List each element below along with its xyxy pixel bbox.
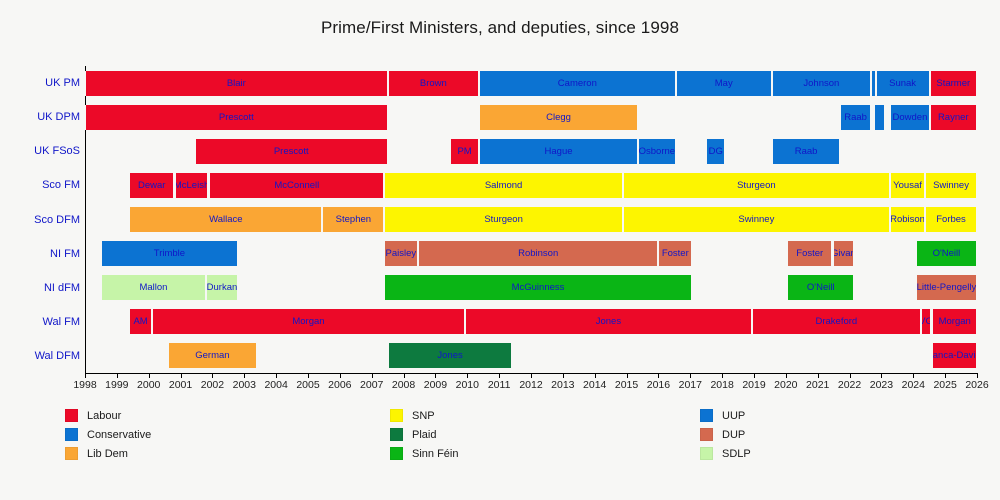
timeline-bar[interactable]: Drakeford bbox=[752, 309, 921, 334]
legend-item-sdlp[interactable]: SDLP bbox=[700, 444, 751, 463]
row-label-ni-dfm: NI dFM bbox=[0, 282, 80, 294]
x-axis-tick-label: 2011 bbox=[488, 379, 511, 391]
legend-label: DUP bbox=[722, 429, 745, 441]
x-axis-tick-label: 2016 bbox=[647, 379, 670, 391]
timeline-bar-label: Robinson bbox=[518, 248, 558, 259]
timeline-bar[interactable]: Osborne bbox=[638, 139, 676, 164]
x-axis-tick bbox=[372, 373, 373, 378]
legend-label: UUP bbox=[722, 410, 745, 422]
x-axis-tick bbox=[818, 373, 819, 378]
timeline-bar-label: Irranca-Davies bbox=[932, 350, 977, 361]
legend-swatch bbox=[65, 428, 78, 441]
timeline-bar[interactable]: Raab bbox=[840, 105, 871, 130]
x-axis-tick bbox=[786, 373, 787, 378]
timeline-bar[interactable]: Blair bbox=[85, 71, 388, 96]
timeline-bar-label: PM bbox=[457, 146, 471, 157]
timeline-bar[interactable]: Rayner bbox=[930, 105, 977, 130]
timeline-bar-label: Drakeford bbox=[815, 316, 857, 327]
legend-item-uup[interactable]: UUP bbox=[700, 406, 751, 425]
timeline-bar[interactable]: Swinney bbox=[623, 207, 890, 232]
legend-swatch bbox=[700, 447, 713, 460]
timeline-bar[interactable]: Little-Pengelly bbox=[916, 275, 977, 300]
row-label-uk-fsos: UK FSoS bbox=[0, 145, 80, 157]
x-axis-tick bbox=[149, 373, 150, 378]
timeline-bar-label: Paisley bbox=[386, 248, 417, 259]
legend-swatch bbox=[390, 409, 403, 422]
timeline-bar-label: Dowden bbox=[893, 112, 928, 123]
x-axis-tick-label: 2026 bbox=[965, 379, 988, 391]
timeline-row: PrescottPMHagueOsborneDGRaab bbox=[85, 139, 977, 164]
timeline-bar[interactable]: PM bbox=[450, 139, 479, 164]
row-label-uk-dpm: UK DPM bbox=[0, 111, 80, 123]
timeline-bar[interactable]: Dowden bbox=[890, 105, 929, 130]
timeline-bar[interactable]: Morgan bbox=[932, 309, 977, 334]
timeline-bar-label: Sturgeon bbox=[484, 214, 523, 225]
x-axis-tick-label: 2021 bbox=[806, 379, 829, 391]
timeline-row: WallaceStephenSturgeonSwinneyRobisonForb… bbox=[85, 207, 977, 232]
timeline-bar[interactable]: Starmer bbox=[930, 71, 977, 96]
timeline-bar[interactable]: Jones bbox=[465, 309, 752, 334]
x-axis-tick-label: 2007 bbox=[360, 379, 383, 391]
x-axis-tick bbox=[563, 373, 564, 378]
timeline-bar-label: Raab bbox=[844, 112, 867, 123]
legend-swatch bbox=[700, 428, 713, 441]
chart-title: Prime/First Ministers, and deputies, sin… bbox=[0, 18, 1000, 38]
timeline-bar[interactable]: Jones bbox=[388, 343, 512, 368]
timeline-bar[interactable]: DG bbox=[706, 139, 725, 164]
x-axis-tick-label: 2008 bbox=[392, 379, 415, 391]
timeline-bar[interactable]: Irranca-Davies bbox=[932, 343, 977, 368]
legend-label: Lib Dem bbox=[87, 448, 128, 460]
x-axis-tick bbox=[85, 373, 86, 378]
timeline-row: MallonDurkanMcGuinnessO'NeillLittle-Peng… bbox=[85, 275, 977, 300]
timeline-bar-label: Rayner bbox=[938, 112, 969, 123]
x-axis-tick-label: 2017 bbox=[679, 379, 702, 391]
x-axis-tick-label: 2025 bbox=[933, 379, 956, 391]
timeline-bar[interactable]: Hague bbox=[479, 139, 638, 164]
timeline-bar-label: Morgan bbox=[939, 316, 971, 327]
timeline-bar-label: Swinney bbox=[933, 180, 969, 191]
legend-swatch bbox=[65, 447, 78, 460]
timeline-bar-label: Sunak bbox=[889, 78, 916, 89]
legend-label: Plaid bbox=[412, 429, 436, 441]
timeline-bar[interactable]: Johnson bbox=[772, 71, 871, 96]
timeline-bar[interactable]: McConnell bbox=[209, 173, 384, 198]
x-axis-tick-label: 2005 bbox=[296, 379, 319, 391]
row-label-wal-dfm: Wal DFM bbox=[0, 350, 80, 362]
timeline-bar-label: Morgan bbox=[292, 316, 324, 327]
timeline-bar-label: Osborne bbox=[639, 146, 675, 157]
timeline-bar-label: Jones bbox=[437, 350, 462, 361]
timeline-row: PrescottCleggRaabDowdenRayner bbox=[85, 105, 977, 130]
x-axis-tick bbox=[276, 373, 277, 378]
timeline-bar-label: Cameron bbox=[558, 78, 597, 89]
timeline-row: BlairBrownCameronMayJohnsonSunakStarmer bbox=[85, 71, 977, 96]
timeline-bar[interactable]: Robison bbox=[890, 207, 925, 232]
legend-item-conservative[interactable]: Conservative bbox=[65, 425, 151, 444]
x-axis-tick-label: 2004 bbox=[264, 379, 287, 391]
x-axis-tick bbox=[117, 373, 118, 378]
timeline-bar-label: McLeish bbox=[175, 180, 208, 191]
legend-label: Labour bbox=[87, 410, 121, 422]
timeline-bar-label: Givan bbox=[833, 248, 854, 259]
timeline-bar-label: Yousaf bbox=[893, 180, 922, 191]
timeline-bar-label: May bbox=[715, 78, 733, 89]
timeline-chart: Prime/First Ministers, and deputies, sin… bbox=[0, 0, 1000, 500]
timeline-bar[interactable]: O'Neill bbox=[916, 241, 977, 266]
x-axis-tick bbox=[881, 373, 882, 378]
x-axis-tick bbox=[627, 373, 628, 378]
legend-swatch bbox=[390, 447, 403, 460]
row-label-sco-dfm: Sco DFM bbox=[0, 214, 80, 226]
timeline-bar[interactable]: Brown bbox=[388, 71, 479, 96]
timeline-bar[interactable]: Wallace bbox=[129, 207, 322, 232]
timeline-bar-label: Stephen bbox=[336, 214, 371, 225]
timeline-bar-label: Hague bbox=[545, 146, 573, 157]
x-axis-tick-label: 2002 bbox=[201, 379, 224, 391]
timeline-bar[interactable]: Mallon bbox=[101, 275, 206, 300]
timeline-bar[interactable]: Trimble bbox=[101, 241, 238, 266]
timeline-bar[interactable]: Prescott bbox=[85, 105, 388, 130]
timeline-bar-label: Wallace bbox=[209, 214, 242, 225]
timeline-row: DewarMcLeishMcConnellSalmondSturgeonYous… bbox=[85, 173, 977, 198]
timeline-bar-label: Brown bbox=[420, 78, 447, 89]
timeline-bar-label: Mallon bbox=[139, 282, 167, 293]
timeline-bar-label: Little-Pengelly bbox=[917, 282, 977, 293]
legend-label: SDLP bbox=[722, 448, 751, 460]
timeline-bar[interactable] bbox=[874, 105, 884, 130]
x-axis-tick-label: 2000 bbox=[137, 379, 160, 391]
timeline-row: AMMorganJonesDrakefordVGMorgan bbox=[85, 309, 977, 334]
timeline-bar[interactable]: Sturgeon bbox=[384, 207, 622, 232]
timeline-bar-label: McGuinness bbox=[512, 282, 565, 293]
timeline-bar-label: Starmer bbox=[936, 78, 970, 89]
legend-column: LabourConservativeLib Dem bbox=[65, 406, 151, 463]
row-label-uk-pm: UK PM bbox=[0, 77, 80, 89]
timeline-bar[interactable]: Givan bbox=[833, 241, 854, 266]
timeline-bar-label: Sturgeon bbox=[737, 180, 776, 191]
row-label-wal-fm: Wal FM bbox=[0, 316, 80, 328]
x-axis-tick-label: 2003 bbox=[233, 379, 256, 391]
x-axis-tick bbox=[977, 373, 978, 378]
timeline-bar[interactable]: Stephen bbox=[322, 207, 384, 232]
timeline-bar[interactable]: Swinney bbox=[925, 173, 977, 198]
timeline-bar-label: Raab bbox=[795, 146, 818, 157]
x-axis-tick bbox=[658, 373, 659, 378]
row-label-ni-fm: NI FM bbox=[0, 248, 80, 260]
x-axis-tick-label: 2009 bbox=[424, 379, 447, 391]
timeline-bar[interactable]: Cameron bbox=[479, 71, 676, 96]
legend-item-dup[interactable]: DUP bbox=[700, 425, 751, 444]
x-axis-tick bbox=[690, 373, 691, 378]
x-axis-tick-label: 2019 bbox=[742, 379, 765, 391]
timeline-bar[interactable]: AM bbox=[129, 309, 152, 334]
x-axis-tick-label: 2013 bbox=[551, 379, 574, 391]
timeline-bar[interactable]: Robinson bbox=[418, 241, 659, 266]
legend-column: UUPDUPSDLP bbox=[700, 406, 751, 463]
x-axis-tick bbox=[404, 373, 405, 378]
timeline-bar[interactable]: O'Neill bbox=[787, 275, 854, 300]
timeline-bar-label: Foster bbox=[796, 248, 823, 259]
x-axis-tick-label: 2023 bbox=[870, 379, 893, 391]
timeline-bar[interactable]: German bbox=[168, 343, 257, 368]
timeline-bar-label: Robison bbox=[890, 214, 925, 225]
timeline-bar-label: German bbox=[195, 350, 229, 361]
x-axis-tick bbox=[467, 373, 468, 378]
x-axis-tick bbox=[308, 373, 309, 378]
legend-column: SNPPlaidSinn Féin bbox=[390, 406, 458, 463]
x-axis-tick-label: 2018 bbox=[710, 379, 733, 391]
x-axis-tick-label: 2015 bbox=[615, 379, 638, 391]
timeline-bar[interactable]: May bbox=[676, 71, 772, 96]
legend-swatch bbox=[65, 409, 78, 422]
timeline-bar-label: Blair bbox=[227, 78, 246, 89]
timeline-bar-label: Foster bbox=[662, 248, 689, 259]
x-axis-tick-label: 2006 bbox=[328, 379, 351, 391]
row-label-axis: UK PMUK DPMUK FSoSSco FMSco DFMNI FMNI d… bbox=[0, 66, 80, 373]
x-axis-tick-label: 2020 bbox=[774, 379, 797, 391]
timeline-bar-label: Swinney bbox=[738, 214, 774, 225]
timeline-bar[interactable]: Durkan bbox=[206, 275, 238, 300]
timeline-bar[interactable]: Sturgeon bbox=[623, 173, 890, 198]
legend-item-labour[interactable]: Labour bbox=[65, 406, 151, 425]
timeline-bar-label: O'Neill bbox=[933, 248, 961, 259]
timeline-bar[interactable]: Salmond bbox=[384, 173, 622, 198]
legend-label: Sinn Féin bbox=[412, 448, 458, 460]
timeline-bar[interactable]: Foster bbox=[787, 241, 832, 266]
legend-item-snp[interactable]: SNP bbox=[390, 406, 458, 425]
timeline-bar[interactable]: Paisley bbox=[384, 241, 418, 266]
x-axis-tick bbox=[244, 373, 245, 378]
timeline-bar-label: Jones bbox=[596, 316, 621, 327]
x-axis-tick bbox=[212, 373, 213, 378]
timeline-bar[interactable]: Morgan bbox=[152, 309, 465, 334]
legend-swatch bbox=[390, 428, 403, 441]
timeline-bar-label: Johnson bbox=[803, 78, 839, 89]
plot-area: BlairBrownCameronMayJohnsonSunakStarmerP… bbox=[85, 66, 977, 373]
timeline-bar-label: Clegg bbox=[546, 112, 571, 123]
x-axis-tick bbox=[181, 373, 182, 378]
legend-label: Conservative bbox=[87, 429, 151, 441]
x-axis-tick-label: 2014 bbox=[583, 379, 606, 391]
timeline-bar-label: O'Neill bbox=[807, 282, 835, 293]
x-axis-tick bbox=[340, 373, 341, 378]
x-axis-tick bbox=[595, 373, 596, 378]
timeline-bar[interactable]: VG bbox=[921, 309, 931, 334]
legend-swatch bbox=[700, 409, 713, 422]
timeline-bar[interactable]: McGuinness bbox=[384, 275, 692, 300]
timeline-bar-label: Salmond bbox=[485, 180, 523, 191]
x-axis-tick bbox=[945, 373, 946, 378]
x-axis-tick-label: 1998 bbox=[73, 379, 96, 391]
timeline-bar[interactable]: Dewar bbox=[129, 173, 174, 198]
x-axis-tick-label: 2024 bbox=[902, 379, 925, 391]
timeline-bar[interactable]: Yousaf bbox=[890, 173, 925, 198]
row-label-sco-fm: Sco FM bbox=[0, 179, 80, 191]
timeline-bar[interactable]: Sunak bbox=[876, 71, 930, 96]
timeline-bar-label: VG bbox=[921, 316, 931, 327]
timeline-bar-label: AM bbox=[133, 316, 147, 327]
legend-item-lib-dem[interactable]: Lib Dem bbox=[65, 444, 151, 463]
x-axis-tick bbox=[754, 373, 755, 378]
timeline-bar[interactable]: Foster bbox=[658, 241, 692, 266]
timeline-bar[interactable]: Clegg bbox=[479, 105, 638, 130]
timeline-bar[interactable]: McLeish bbox=[175, 173, 208, 198]
x-axis-tick bbox=[531, 373, 532, 378]
timeline-bar-label: McConnell bbox=[274, 180, 319, 191]
timeline-bar[interactable]: Forbes bbox=[925, 207, 977, 232]
x-axis-tick bbox=[435, 373, 436, 378]
x-axis-tick bbox=[850, 373, 851, 378]
x-axis-tick-label: 2001 bbox=[169, 379, 192, 391]
timeline-row: TrimblePaisleyRobinsonFosterFosterGivanO… bbox=[85, 241, 977, 266]
timeline-row: GermanJonesIrranca-Davies bbox=[85, 343, 977, 368]
x-axis-tick bbox=[722, 373, 723, 378]
x-axis-tick-label: 2010 bbox=[456, 379, 479, 391]
x-axis-tick-label: 2012 bbox=[519, 379, 542, 391]
legend-item-plaid[interactable]: Plaid bbox=[390, 425, 458, 444]
legend-label: SNP bbox=[412, 410, 435, 422]
timeline-bar-label: Dewar bbox=[138, 180, 165, 191]
timeline-bar[interactable]: Raab bbox=[772, 139, 840, 164]
x-axis-tick-label: 2022 bbox=[838, 379, 861, 391]
timeline-bar-label: DG bbox=[709, 146, 723, 157]
timeline-bar-label: Durkan bbox=[207, 282, 238, 293]
chart-legend: LabourConservativeLib DemSNPPlaidSinn Fé… bbox=[0, 406, 1000, 486]
x-axis-tick bbox=[913, 373, 914, 378]
x-axis-tick bbox=[499, 373, 500, 378]
timeline-bar-label: Trimble bbox=[154, 248, 185, 259]
x-axis-tick-label: 1999 bbox=[105, 379, 128, 391]
timeline-bar-label: Forbes bbox=[936, 214, 966, 225]
timeline-bar-label: Prescott bbox=[219, 112, 254, 123]
timeline-bar[interactable]: Prescott bbox=[195, 139, 388, 164]
timeline-bar-label: Prescott bbox=[274, 146, 309, 157]
legend-item-sinn-féin[interactable]: Sinn Féin bbox=[390, 444, 458, 463]
